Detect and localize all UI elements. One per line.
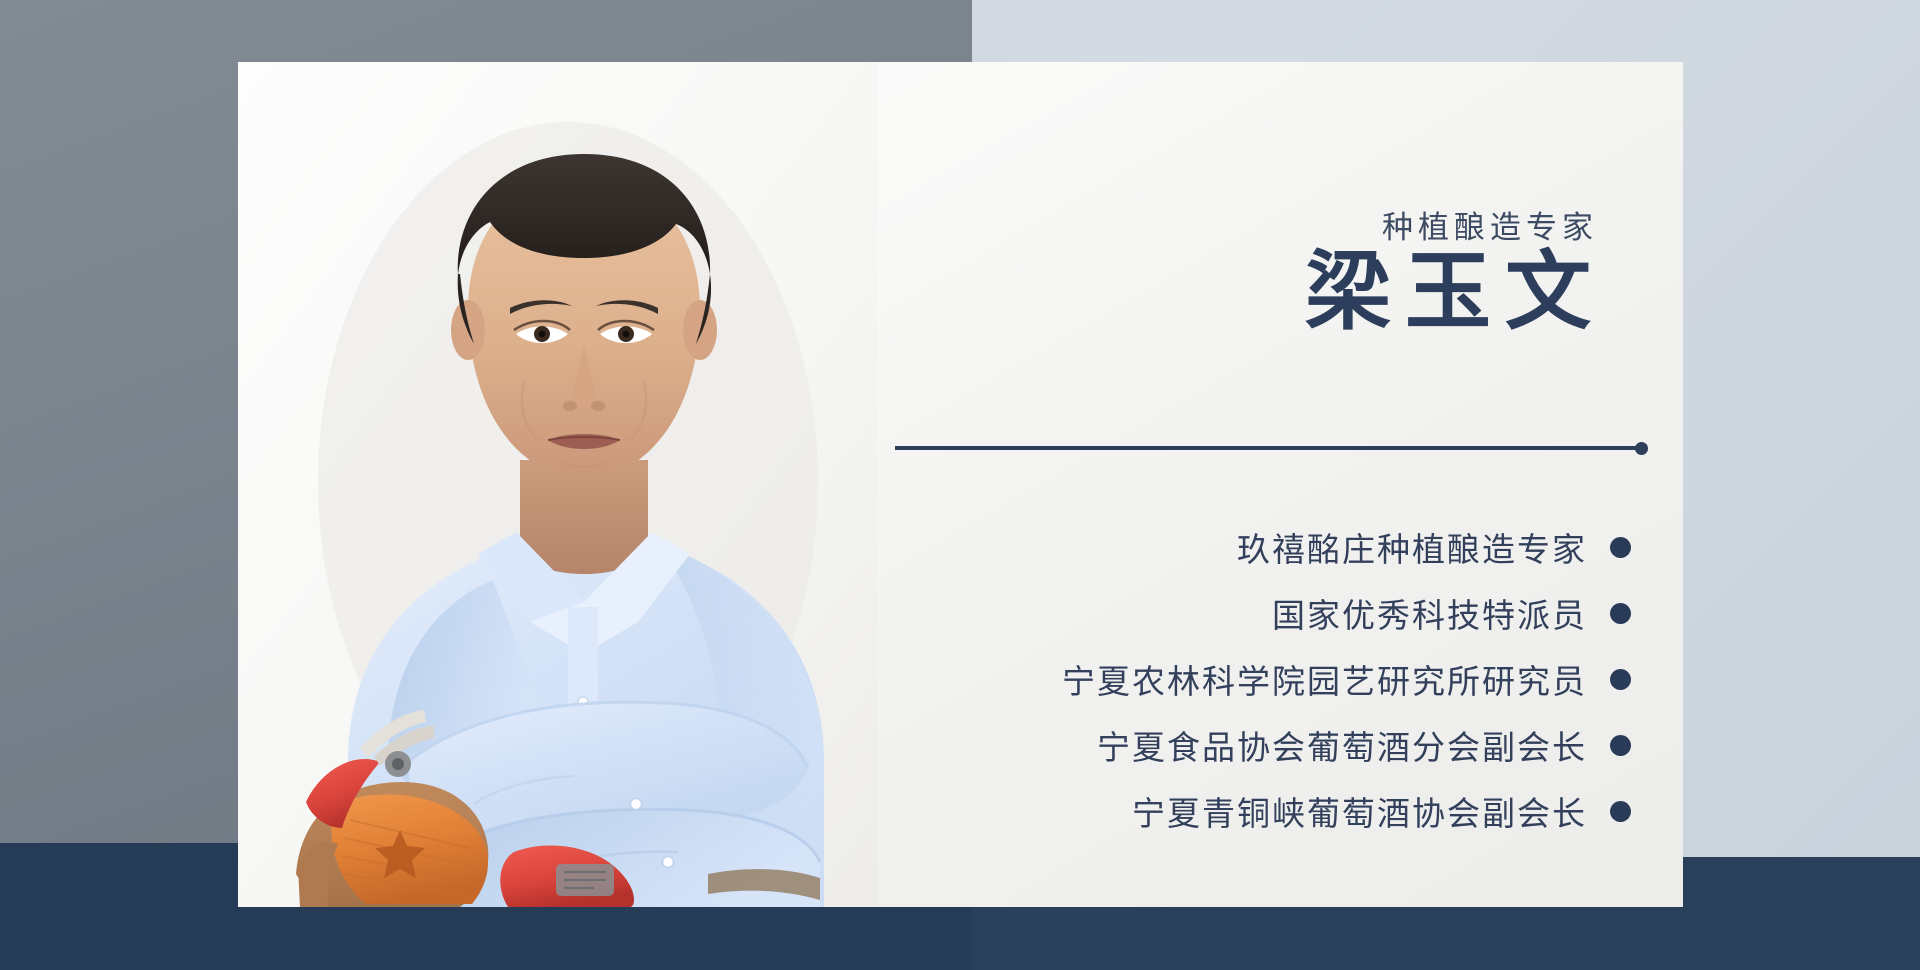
bullet-dot-icon	[1610, 537, 1631, 558]
credential-label: 宁夏青铜峡葡萄酒协会副会长	[1132, 787, 1587, 835]
credential-label: 国家优秀科技特派员	[1272, 589, 1587, 637]
portrait-photo	[238, 62, 878, 907]
list-item: 国家优秀科技特派员	[891, 586, 1631, 640]
bullet-dot-icon	[1610, 603, 1631, 624]
bullet-dot-icon	[1610, 801, 1631, 822]
person-name: 梁玉文	[1305, 249, 1605, 335]
credential-label: 宁夏农林科学院园艺研究所研究员	[1062, 655, 1587, 703]
list-item: 宁夏农林科学院园艺研究所研究员	[891, 652, 1631, 706]
divider-line	[895, 446, 1640, 450]
bullet-dot-icon	[1610, 735, 1631, 756]
profile-banner: 种植酿造专家 梁玉文 玖禧酩庄种植酿造专家 国家优秀科技特派员 宁夏农林科学院园…	[0, 0, 1920, 970]
credentials-list: 玖禧酩庄种植酿造专家 国家优秀科技特派员 宁夏农林科学院园艺研究所研究员 宁夏食…	[891, 520, 1631, 850]
list-item: 宁夏青铜峡葡萄酒协会副会长	[891, 784, 1631, 838]
credential-label: 玖禧酩庄种植酿造专家	[1237, 523, 1587, 571]
divider-end-dot	[1635, 442, 1648, 455]
bullet-dot-icon	[1610, 669, 1631, 690]
credential-label: 宁夏食品协会葡萄酒分会副会长	[1097, 721, 1587, 769]
profile-text-column: 种植酿造专家 梁玉文 玖禧酩庄种植酿造专家 国家优秀科技特派员 宁夏农林科学院园…	[878, 62, 1683, 907]
list-item: 玖禧酩庄种植酿造专家	[891, 520, 1631, 574]
section-divider	[895, 442, 1683, 456]
profile-card: 种植酿造专家 梁玉文 玖禧酩庄种植酿造专家 国家优秀科技特派员 宁夏农林科学院园…	[238, 62, 1683, 907]
role-title: 种植酿造专家	[1382, 202, 1598, 247]
list-item: 宁夏食品协会葡萄酒分会副会长	[891, 718, 1631, 772]
